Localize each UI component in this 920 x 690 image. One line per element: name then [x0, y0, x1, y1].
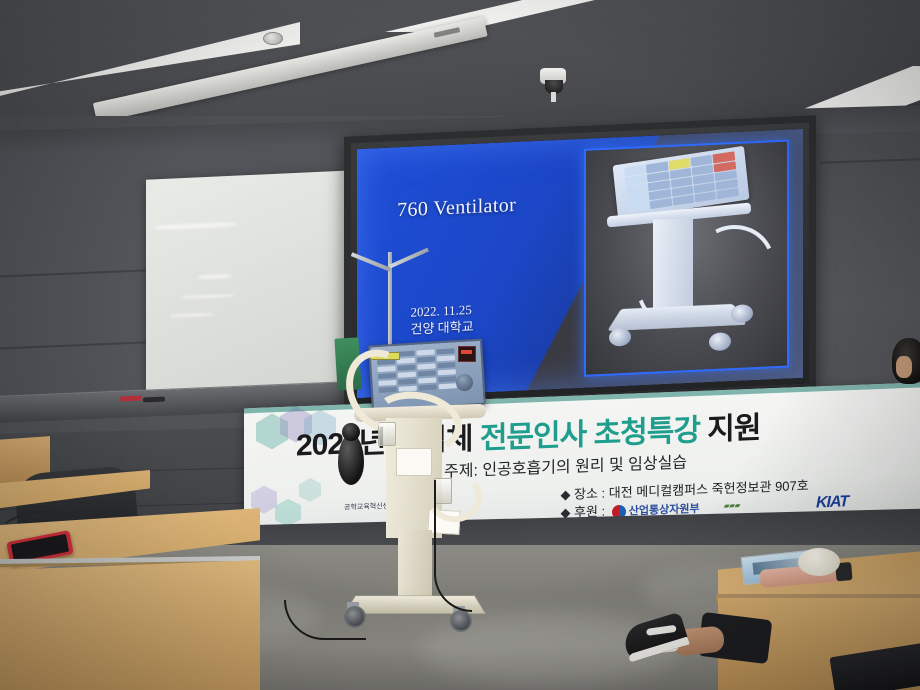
slide-vent-base	[607, 304, 747, 331]
slide-vent-caster	[609, 328, 631, 347]
test-lung-bag	[338, 435, 364, 485]
dome-security-camera-mount	[551, 92, 556, 102]
ventilator-alarm-indicator	[458, 346, 476, 362]
whiteboard-glare	[154, 222, 236, 231]
red-marker[interactable]	[120, 396, 142, 402]
smoke-detector	[263, 32, 283, 45]
slide-vent-caster	[709, 332, 731, 351]
sneaker-stripe	[646, 625, 677, 636]
ventilator-control-knob[interactable]	[456, 374, 473, 391]
banner-partner-mark: ▰▰▰	[724, 501, 740, 510]
lecture-room-scene: 760 Ventilator 2022. 11.25 건양 대학교	[0, 0, 920, 690]
diamond-bullet-icon	[561, 491, 571, 501]
desk-front-panel	[0, 560, 260, 690]
ventilator-column	[398, 530, 432, 600]
slide-vent-keypad	[623, 152, 738, 213]
training-manikin	[798, 548, 840, 576]
person-face	[896, 356, 912, 378]
whiteboard-glare	[170, 313, 214, 318]
banner-title-support: 지원	[700, 412, 761, 447]
black-marker[interactable]	[143, 397, 165, 403]
whiteboard	[146, 170, 354, 397]
whiteboard-glare	[182, 294, 234, 299]
slide-ventilator-photo	[584, 139, 789, 376]
whiteboard-glare	[198, 274, 232, 280]
slide-vent-caster	[731, 304, 753, 323]
power-cord	[434, 480, 472, 612]
